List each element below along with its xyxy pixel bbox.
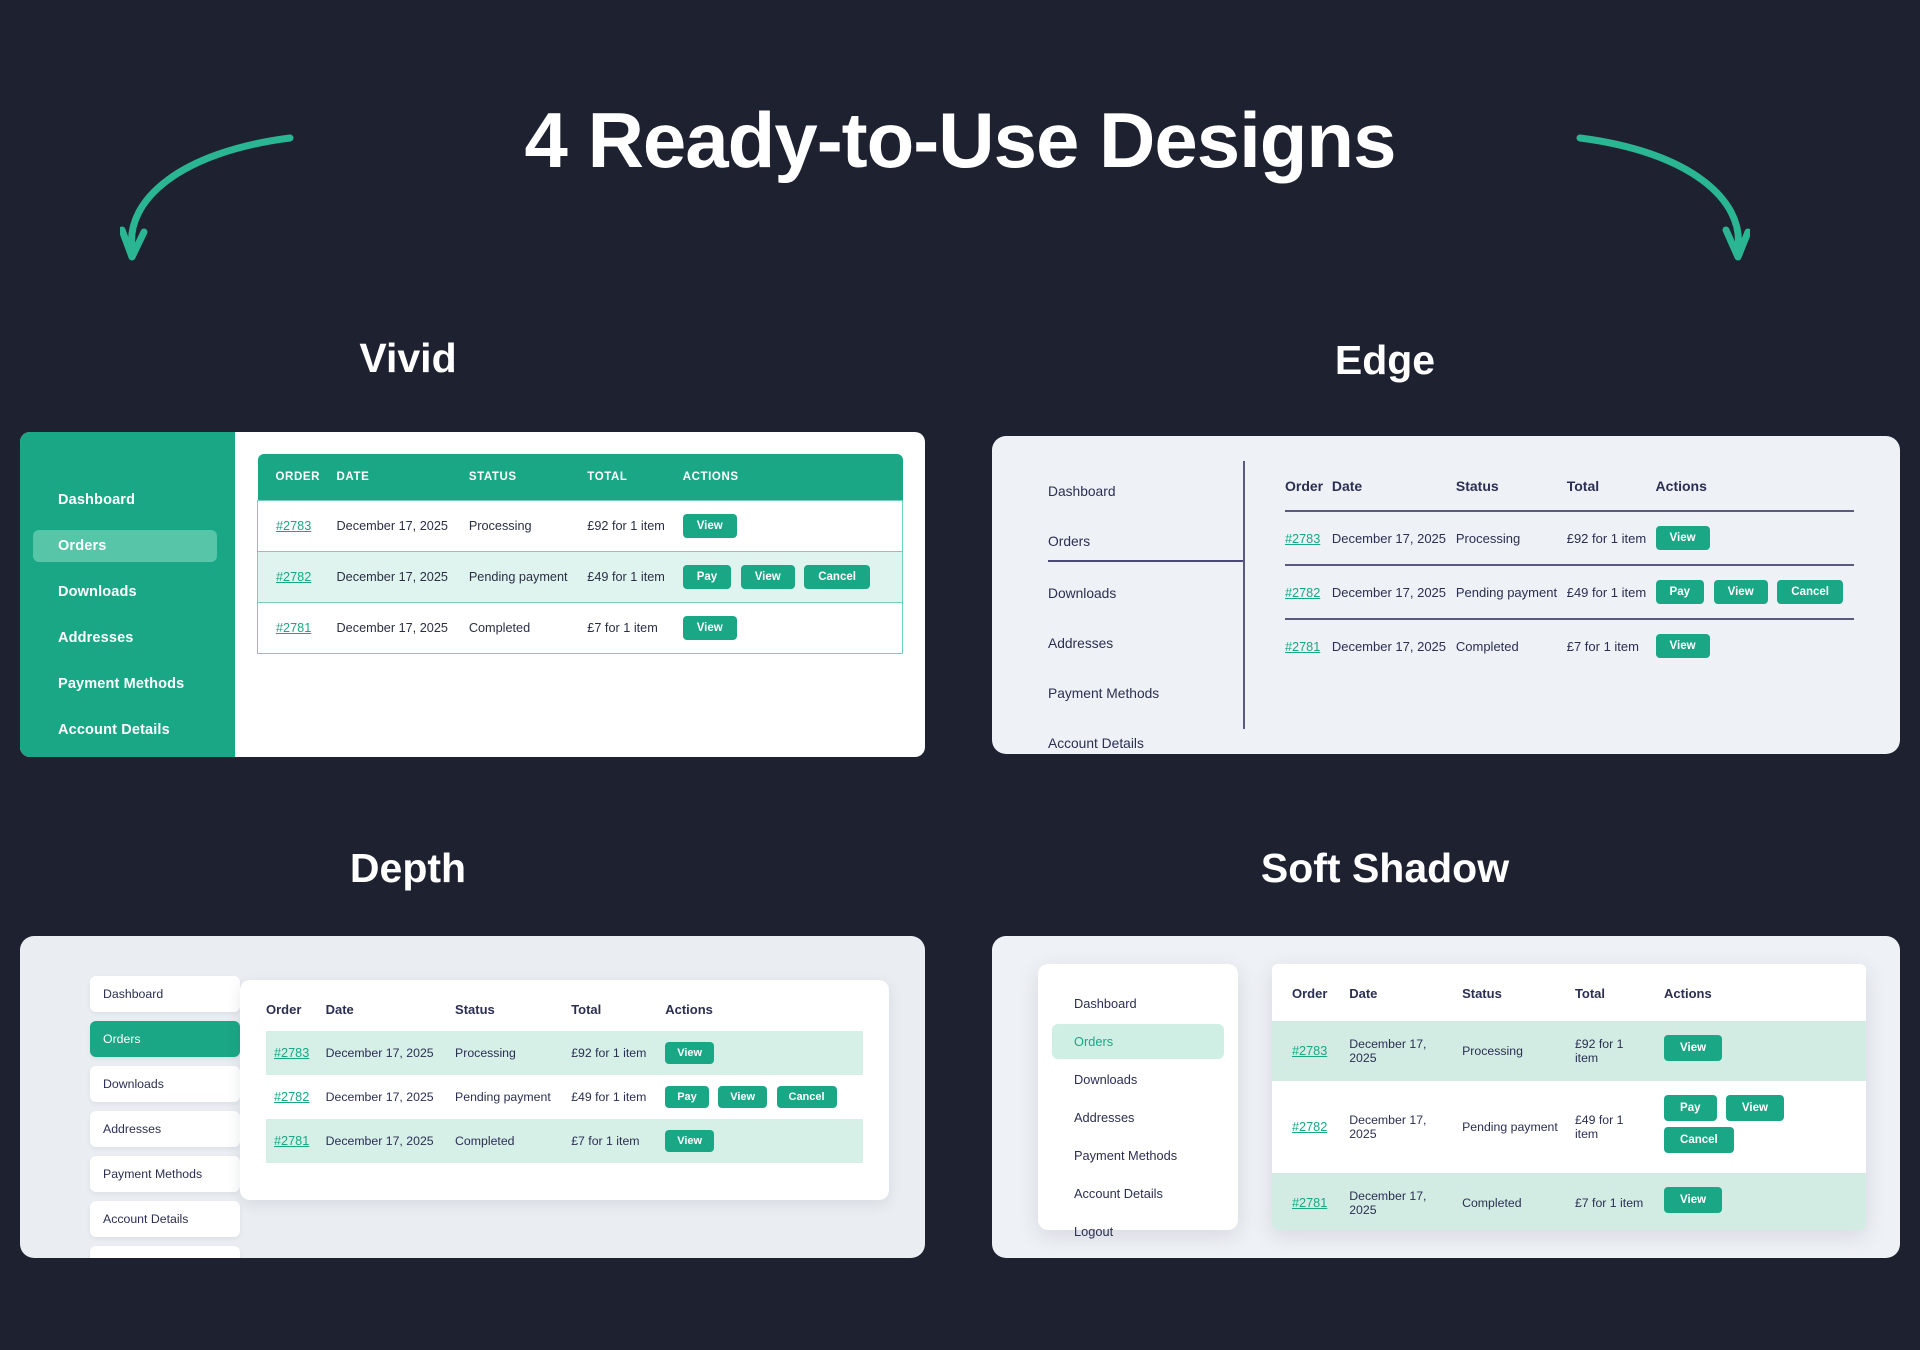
pay-button[interactable]: Pay — [1656, 580, 1704, 604]
design-preview-soft-shadow: Dashboard Orders Downloads Addresses Pay… — [992, 936, 1900, 1258]
column-header-order: Order — [266, 1002, 326, 1031]
orders-table-region-edge: Order Date Status Total Actions #2783 De… — [1245, 436, 1900, 754]
cell-actions: View — [1656, 511, 1854, 565]
column-header-total: Total — [1575, 964, 1664, 1021]
table-row: #2781 December 17, 2025 Completed £7 for… — [266, 1119, 863, 1163]
column-header-date: DATE — [337, 454, 469, 501]
panel-title-depth: Depth — [0, 845, 868, 892]
cell-date: December 17, 2025 — [337, 552, 469, 603]
cell-total: £7 for 1 item — [587, 603, 682, 654]
table-header-row: Order Date Status Total Actions — [1285, 478, 1854, 511]
cell-status: Processing — [469, 501, 587, 552]
order-link[interactable]: #2782 — [1285, 586, 1320, 600]
column-header-actions: Actions — [1664, 964, 1866, 1021]
view-button[interactable]: View — [1726, 1095, 1784, 1121]
cell-total: £49 for 1 item — [571, 1075, 665, 1119]
table-row: #2781 December 17, 2025 Completed £7 for… — [1272, 1173, 1866, 1230]
cell-actions: View — [683, 501, 903, 552]
order-link[interactable]: #2782 — [276, 570, 311, 584]
order-link[interactable]: #2781 — [1292, 1196, 1327, 1210]
column-header-total: Total — [571, 1002, 665, 1031]
view-button[interactable]: View — [1656, 526, 1710, 550]
curved-arrow-down-left-icon — [120, 130, 310, 270]
view-button[interactable]: View — [683, 514, 737, 538]
order-link[interactable]: #2781 — [276, 621, 311, 635]
cell-actions: Pay View Cancel — [1656, 565, 1854, 619]
cell-actions: View — [1656, 619, 1854, 672]
order-link[interactable]: #2783 — [1292, 1044, 1327, 1058]
orders-table-region-depth: Order Date Status Total Actions #2783 De… — [240, 980, 889, 1200]
column-header-actions: ACTIONS — [683, 454, 903, 501]
cell-status: Processing — [1462, 1021, 1575, 1081]
design-preview-vivid: Dashboard Orders Downloads Addresses Pay… — [20, 432, 925, 757]
column-header-status: STATUS — [469, 454, 587, 501]
table-row: #2782 December 17, 2025 Pending payment … — [266, 1075, 863, 1119]
sidebar-item-orders[interactable]: Orders — [33, 530, 217, 562]
view-button[interactable]: View — [683, 616, 737, 640]
sidebar-soft-shadow: Dashboard Orders Downloads Addresses Pay… — [1038, 964, 1238, 1230]
sidebar-edge: Dashboard Orders Downloads Addresses Pay… — [992, 436, 1243, 754]
sidebar-item-logout[interactable]: Logout — [90, 1246, 240, 1258]
cell-date: December 17, 2025 — [1332, 619, 1456, 672]
orders-table: Order Date Status Total Actions #2783 De… — [266, 1002, 863, 1163]
cell-total: £7 for 1 item — [1575, 1173, 1664, 1230]
sidebar-depth: Dashboard Orders Downloads Addresses Pay… — [20, 936, 240, 1258]
order-link[interactable]: #2782 — [1292, 1120, 1327, 1134]
poster-canvas: 4 Ready-to-Use Designs Vivid Edge Depth … — [0, 0, 1920, 1350]
sidebar-item-downloads[interactable]: Downloads — [1048, 586, 1243, 612]
table-row: #2781 December 17, 2025 Completed £7 for… — [1285, 619, 1854, 672]
sidebar-item-account-details[interactable]: Account Details — [1048, 736, 1243, 754]
cell-status: Pending payment — [455, 1075, 571, 1119]
order-link[interactable]: #2782 — [274, 1090, 309, 1104]
sidebar-item-orders[interactable]: Orders — [1048, 534, 1243, 562]
sidebar-item-payment-methods[interactable]: Payment Methods — [1048, 686, 1243, 712]
table-row: #2782 December 17, 2025 Pending payment … — [258, 552, 903, 603]
column-header-status: Status — [1456, 478, 1567, 511]
column-header-date: Date — [1349, 964, 1462, 1021]
cell-date: December 17, 2025 — [326, 1119, 455, 1163]
table-row: #2783 December 17, 2025 Processing £92 f… — [1272, 1021, 1866, 1081]
column-header-status: Status — [455, 1002, 571, 1031]
column-header-status: Status — [1462, 964, 1575, 1021]
cell-total: £49 for 1 item — [1567, 565, 1656, 619]
table-row: #2782 December 17, 2025 Pending payment … — [1285, 565, 1854, 619]
column-header-order: Order — [1285, 478, 1332, 511]
cell-total: £92 for 1 item — [587, 501, 682, 552]
table-row: #2783 December 17, 2025 Processing £92 f… — [258, 501, 903, 552]
sidebar-item-addresses[interactable]: Addresses — [33, 622, 217, 654]
panel-title-edge: Edge — [925, 337, 1845, 384]
cell-total: £7 for 1 item — [571, 1119, 665, 1163]
table-row: #2783 December 17, 2025 Processing £92 f… — [1285, 511, 1854, 565]
view-button[interactable]: View — [1656, 634, 1710, 658]
table-header-row: Order Date Status Total Actions — [266, 1002, 863, 1031]
table-row: #2783 December 17, 2025 Processing £92 f… — [266, 1031, 863, 1075]
sidebar-item-addresses[interactable]: Addresses — [90, 1111, 240, 1147]
cell-date: December 17, 2025 — [326, 1031, 455, 1075]
column-header-total: TOTAL — [587, 454, 682, 501]
sidebar-item-dashboard[interactable]: Dashboard — [90, 976, 240, 1012]
orders-table: Order Date Status Total Actions #2783 De… — [1272, 964, 1866, 1230]
orders-table: ORDER DATE STATUS TOTAL ACTIONS #2783 De… — [257, 454, 903, 654]
cell-total: £49 for 1 item — [1575, 1081, 1664, 1173]
cell-status: Processing — [1456, 511, 1567, 565]
cancel-button[interactable]: Cancel — [804, 565, 870, 589]
pay-button[interactable]: Pay — [665, 1086, 709, 1108]
design-preview-depth: Dashboard Orders Downloads Addresses Pay… — [20, 936, 925, 1258]
pay-button[interactable]: Pay — [1664, 1095, 1716, 1121]
column-header-date: Date — [326, 1002, 455, 1031]
cancel-button[interactable]: Cancel — [1664, 1127, 1734, 1153]
cell-date: December 17, 2025 — [1349, 1173, 1462, 1230]
table-row: #2781 December 17, 2025 Completed £7 for… — [258, 603, 903, 654]
sidebar-item-downloads[interactable]: Downloads — [90, 1066, 240, 1102]
cell-date: December 17, 2025 — [1332, 565, 1456, 619]
table-header-row: Order Date Status Total Actions — [1272, 964, 1866, 1021]
cell-date: December 17, 2025 — [1332, 511, 1456, 565]
cancel-button[interactable]: Cancel — [1777, 580, 1843, 604]
column-header-order: Order — [1272, 964, 1349, 1021]
panel-title-soft-shadow: Soft Shadow — [925, 845, 1845, 892]
column-header-actions: Actions — [1656, 478, 1854, 511]
order-link[interactable]: #2781 — [1285, 640, 1320, 654]
order-link[interactable]: #2783 — [1285, 532, 1320, 546]
cancel-button[interactable]: Cancel — [777, 1086, 837, 1108]
orders-table-region-soft-shadow: Order Date Status Total Actions #2783 De… — [1272, 964, 1866, 1230]
view-button[interactable]: View — [665, 1042, 714, 1064]
order-link[interactable]: #2783 — [274, 1046, 309, 1060]
sidebar-item-account-details[interactable]: Account Details — [33, 714, 217, 746]
cell-date: December 17, 2025 — [326, 1075, 455, 1119]
cell-date: December 17, 2025 — [1349, 1021, 1462, 1081]
cell-actions: View — [1664, 1173, 1866, 1230]
sidebar-item-downloads[interactable]: Downloads — [1052, 1062, 1224, 1097]
table-row: #2782 December 17, 2025 Pending payment … — [1272, 1081, 1866, 1173]
sidebar-item-orders[interactable]: Orders — [90, 1021, 240, 1057]
sidebar-item-dashboard[interactable]: Dashboard — [1052, 986, 1224, 1021]
sidebar-item-account-details[interactable]: Account Details — [1052, 1176, 1224, 1211]
cell-status: Completed — [469, 603, 587, 654]
column-header-total: Total — [1567, 478, 1656, 511]
sidebar-item-dashboard[interactable]: Dashboard — [33, 484, 217, 516]
cell-date: December 17, 2025 — [1349, 1081, 1462, 1173]
view-button[interactable]: View — [1664, 1187, 1722, 1213]
cell-actions: View — [665, 1031, 863, 1075]
table-header-row: ORDER DATE STATUS TOTAL ACTIONS — [258, 454, 903, 501]
design-preview-edge: Dashboard Orders Downloads Addresses Pay… — [992, 436, 1900, 754]
column-header-date: Date — [1332, 478, 1456, 511]
view-button[interactable]: View — [718, 1086, 767, 1108]
order-link[interactable]: #2783 — [276, 519, 311, 533]
cell-status: Completed — [455, 1119, 571, 1163]
column-header-order: ORDER — [258, 454, 337, 501]
view-button[interactable]: View — [665, 1130, 714, 1152]
cell-date: December 17, 2025 — [337, 501, 469, 552]
cell-total: £49 for 1 item — [587, 552, 682, 603]
sidebar-vivid: Dashboard Orders Downloads Addresses Pay… — [20, 432, 235, 757]
sidebar-item-account-details[interactable]: Account Details — [90, 1201, 240, 1237]
cell-status: Pending payment — [1462, 1081, 1575, 1173]
sidebar-item-payment-methods[interactable]: Payment Methods — [1052, 1138, 1224, 1173]
order-link[interactable]: #2781 — [274, 1134, 309, 1148]
cell-status: Pending payment — [1456, 565, 1567, 619]
cell-actions: View — [683, 603, 903, 654]
pay-button[interactable]: Pay — [683, 565, 731, 589]
view-button[interactable]: View — [1664, 1035, 1722, 1061]
cell-total: £92 for 1 item — [1567, 511, 1656, 565]
cell-actions: Pay View Cancel — [665, 1075, 863, 1119]
cell-date: December 17, 2025 — [337, 603, 469, 654]
cell-total: £92 for 1 item — [571, 1031, 665, 1075]
cell-actions: View — [665, 1119, 863, 1163]
cell-actions: Pay View Cancel — [683, 552, 903, 603]
panel-title-vivid: Vivid — [0, 335, 868, 382]
view-button[interactable]: View — [741, 565, 795, 589]
cell-actions: Pay View Cancel — [1664, 1081, 1866, 1173]
orders-table: Order Date Status Total Actions #2783 De… — [1285, 478, 1854, 672]
cell-status: Completed — [1462, 1173, 1575, 1230]
cell-status: Processing — [455, 1031, 571, 1075]
cell-status: Pending payment — [469, 552, 587, 603]
sidebar-item-addresses[interactable]: Addresses — [1048, 636, 1243, 662]
cell-total: £7 for 1 item — [1567, 619, 1656, 672]
sidebar-item-addresses[interactable]: Addresses — [1052, 1100, 1224, 1135]
cell-status: Completed — [1456, 619, 1567, 672]
curved-arrow-down-right-icon — [1560, 130, 1750, 270]
sidebar-item-orders[interactable]: Orders — [1052, 1024, 1224, 1059]
cell-actions: View — [1664, 1021, 1866, 1081]
orders-table-region-vivid: ORDER DATE STATUS TOTAL ACTIONS #2783 De… — [235, 432, 925, 757]
sidebar-item-downloads[interactable]: Downloads — [33, 576, 217, 608]
view-button[interactable]: View — [1714, 580, 1768, 604]
sidebar-item-payment-methods[interactable]: Payment Methods — [90, 1156, 240, 1192]
sidebar-item-payment-methods[interactable]: Payment Methods — [33, 668, 217, 700]
column-header-actions: Actions — [665, 1002, 863, 1031]
sidebar-item-logout[interactable]: Logout — [1052, 1214, 1224, 1249]
sidebar-item-dashboard[interactable]: Dashboard — [1048, 484, 1243, 510]
cell-total: £92 for 1 item — [1575, 1021, 1664, 1081]
